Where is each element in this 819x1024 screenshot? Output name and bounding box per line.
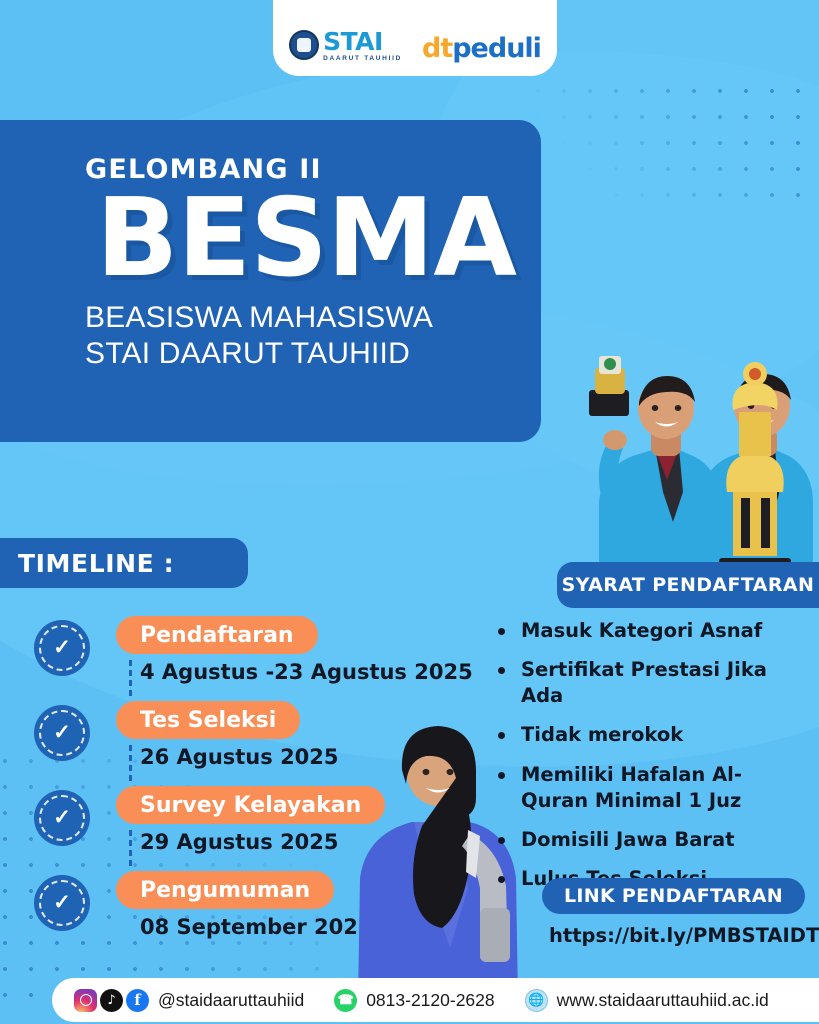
check-circle-icon: ✓ xyxy=(34,705,90,761)
timeline-item-date: 4 Agustus -23 Agustus 2025 xyxy=(140,660,473,684)
dtpeduli-logo: dtpeduli xyxy=(422,35,541,62)
dtpeduli-logo-peduli: peduli xyxy=(452,33,541,64)
instagram-icon[interactable] xyxy=(74,989,97,1012)
requirements-heading: SYARAT PENDAFTARAN xyxy=(562,574,815,596)
facebook-icon[interactable]: f xyxy=(126,989,149,1012)
whatsapp-icon[interactable]: ☎ xyxy=(334,989,357,1012)
check-circle-icon: ✓ xyxy=(34,790,90,846)
requirement-item: Sertifikat Prestasi Jika Ada xyxy=(495,657,815,709)
website-url: www.staidaaruttauhiid.ac.id xyxy=(557,990,769,1011)
hero-subtitle-line-1: BEASISWA MAHASISWA xyxy=(85,300,541,335)
registration-link-badge[interactable]: LINK PENDAFTARAN xyxy=(542,878,805,914)
logo-card: STAI DAARUT TAUHIID dtpeduli xyxy=(273,0,557,76)
poster-canvas: STAI DAARUT TAUHIID dtpeduli GELOMBANG I… xyxy=(0,0,819,1024)
timeline-item-label: Pendaftaran xyxy=(116,616,318,654)
timeline-item-label: Pengumuman xyxy=(116,871,334,909)
stai-logo-main: STAI xyxy=(323,29,402,54)
tiktok-icon[interactable]: ♪ xyxy=(100,989,123,1012)
timeline-item-label: Tes Seleksi xyxy=(116,701,300,739)
timeline-heading-badge: TIMELINE : xyxy=(0,538,248,588)
photo-male-students-with-trophies xyxy=(547,352,815,592)
footer-social-group: ♪ f @staidaaruttauhiid xyxy=(74,989,304,1012)
timeline-item-date: 29 Agustus 2025 xyxy=(140,830,339,854)
timeline-connector xyxy=(129,745,132,781)
timeline-connector xyxy=(129,660,132,696)
timeline-item: ✓ Pendaftaran 4 Agustus -23 Agustus 2025 xyxy=(34,612,454,697)
page-title: BESMA xyxy=(96,189,541,288)
stai-logo-sub: DAARUT TAUHIID xyxy=(323,56,402,63)
stai-logo: STAI DAARUT TAUHIID xyxy=(289,29,402,63)
stai-wordmark: STAI DAARUT TAUHIID xyxy=(323,29,402,63)
requirement-item: Domisili Jawa Barat xyxy=(495,827,815,853)
requirements-heading-badge: SYARAT PENDAFTARAN xyxy=(557,562,819,608)
timeline-heading: TIMELINE : xyxy=(18,549,174,578)
footer-contact-bar: ♪ f @staidaaruttauhiid ☎ 0813-2120-2628 … xyxy=(52,978,819,1022)
stai-seal-icon xyxy=(289,30,319,60)
check-circle-icon: ✓ xyxy=(34,620,90,676)
phone-number: 0813-2120-2628 xyxy=(366,990,494,1011)
requirement-item: Tidak merokok xyxy=(495,722,815,748)
footer-website-group: 🌐 www.staidaaruttauhiid.ac.id xyxy=(525,989,769,1012)
check-circle-icon: ✓ xyxy=(34,875,90,931)
footer-phone-group: ☎ 0813-2120-2628 xyxy=(334,989,494,1012)
hero-panel: GELOMBANG II BESMA BEASISWA MAHASISWA ST… xyxy=(0,120,541,442)
requirement-item: Masuk Kategori Asnaf xyxy=(495,618,815,644)
hero-subtitle: BEASISWA MAHASISWA STAI DAARUT TAUHIID xyxy=(85,300,541,371)
requirement-item: Memiliki Hafalan Al- Quran Minimal 1 Juz xyxy=(495,762,815,814)
registration-url[interactable]: https://bit.ly/PMBSTAIDT2025 xyxy=(549,924,819,947)
social-icons: ♪ f xyxy=(74,989,149,1012)
dot-pattern-top-right xyxy=(525,78,819,218)
requirements-list: Masuk Kategori Asnaf Sertifikat Prestasi… xyxy=(495,618,815,905)
social-handle: @staidaaruttauhiid xyxy=(158,990,304,1011)
dtpeduli-logo-dt: dt xyxy=(422,33,452,64)
globe-icon[interactable]: 🌐 xyxy=(525,989,548,1012)
hero-subtitle-line-2: STAI DAARUT TAUHIID xyxy=(85,336,541,371)
timeline-item-date: 26 Agustus 2025 xyxy=(140,745,339,769)
timeline-connector xyxy=(129,830,132,866)
